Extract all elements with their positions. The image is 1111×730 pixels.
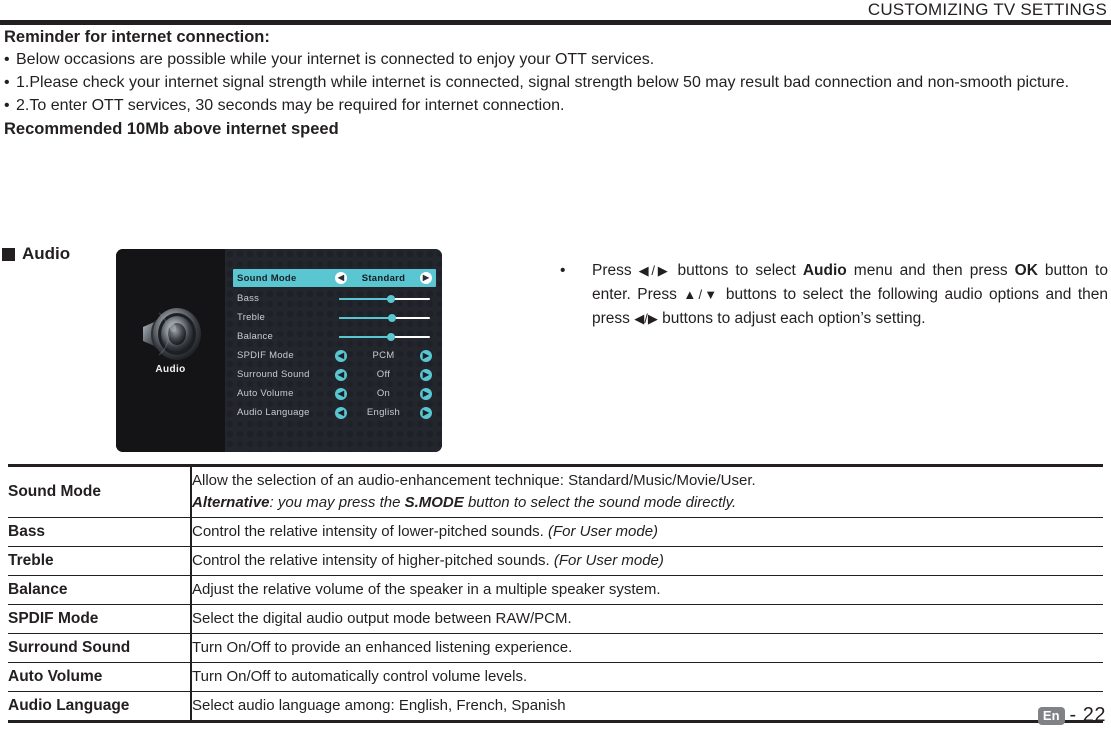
chevron-left-icon[interactable]: ◀ (335, 388, 347, 400)
bullet-glyph: • (6, 71, 16, 94)
reminder-bullet-1: •Below occasions are possible while your… (4, 48, 1106, 71)
table-cell-key: SPDIF Mode (8, 605, 191, 634)
page-number: - 22 (1070, 704, 1106, 727)
up-down-arrows-icon: ▲/▼ (683, 287, 719, 302)
table-cell-value: Turn On/Off to provide an enhanced liste… (191, 634, 1103, 663)
osd-options-panel: Sound Mode ◀ Standard ▶ Bass Treble (225, 249, 442, 452)
table-cell-value: Control the relative intensity of higher… (191, 547, 1103, 576)
reminder-bullet-3-text: 2.To enter OTT services, 30 seconds may … (16, 97, 564, 114)
chevron-right-icon[interactable]: ▶ (420, 350, 432, 362)
reminder-title: Reminder for internet connection: (4, 26, 1106, 48)
osd-row-spdif-mode[interactable]: SPDIF Mode ◀ PCM ▶ (233, 346, 436, 365)
chevron-left-icon[interactable]: ◀ (335, 272, 347, 284)
slider-knob[interactable] (388, 314, 396, 322)
instruction-text: Press ◀/▶ buttons to select Audio menu a… (592, 259, 1108, 331)
table-cell-key: Treble (8, 547, 191, 576)
table-cell-value: Select audio language among: English, Fr… (191, 692, 1103, 722)
table-cell-key: Sound Mode (8, 466, 191, 518)
table-row: SPDIF Mode Select the digital audio outp… (8, 605, 1103, 634)
osd-row-audio-language-label: Audio Language (237, 407, 335, 418)
osd-row-audio-language-value: English (347, 407, 420, 418)
instruction-part-3: menu and then press (847, 262, 1015, 279)
instruction-part-1: Press (592, 262, 639, 279)
table-row: Audio Language Select audio language amo… (8, 692, 1103, 722)
alternative-label: Alternative (192, 494, 270, 511)
smode-button-label: S.MODE (405, 494, 464, 511)
osd-row-surround-sound-label: Surround Sound (237, 369, 335, 380)
tv-osd-audio-menu: Audio Sound Mode ◀ Standard ▶ Bass Trebl… (116, 249, 442, 452)
table-row: Treble Control the relative intensity of… (8, 547, 1103, 576)
page-footer: En - 22 (1038, 704, 1106, 727)
table-row: Bass Control the relative intensity of l… (8, 518, 1103, 547)
osd-row-surround-sound-value: Off (347, 369, 420, 380)
audio-options-table: Sound Mode Allow the selection of an aud… (8, 464, 1103, 723)
osd-category-panel: Audio (116, 249, 225, 452)
chevron-right-icon[interactable]: ▶ (420, 272, 432, 284)
table-row: Auto Volume Turn On/Off to automatically… (8, 663, 1103, 692)
osd-row-bass[interactable]: Bass (233, 289, 436, 308)
slider-knob[interactable] (387, 295, 395, 303)
table-cell-line-1: Control the relative intensity of higher… (192, 552, 554, 569)
bullet-glyph: • (6, 94, 16, 117)
table-row: Surround Sound Turn On/Off to provide an… (8, 634, 1103, 663)
osd-row-treble-slider[interactable] (339, 312, 430, 324)
osd-row-balance[interactable]: Balance (233, 327, 436, 346)
speaker-icon (137, 307, 205, 361)
osd-row-audio-language[interactable]: Audio Language ◀ English ▶ (233, 403, 436, 422)
osd-category-label: Audio (116, 364, 225, 375)
table-cell-key: Balance (8, 576, 191, 605)
osd-row-sound-mode[interactable]: Sound Mode ◀ Standard ▶ (233, 269, 436, 287)
reminder-footer-note: Recommended 10Mb above internet speed (4, 118, 1106, 141)
osd-row-auto-volume-label: Auto Volume (237, 388, 335, 399)
table-cell-line-2: Alternative: you may press the S.MODE bu… (192, 492, 1103, 514)
chevron-right-icon[interactable]: ▶ (420, 369, 432, 381)
header-divider-rule (0, 20, 1111, 25)
instruction-bold-audio: Audio (803, 262, 847, 279)
left-right-arrows-icon: ◀/▶ (634, 311, 658, 326)
alternative-mid: : you may press the (270, 494, 405, 511)
osd-row-spdif-mode-value: PCM (347, 350, 420, 361)
slider-fill (339, 317, 392, 319)
osd-row-treble-label: Treble (237, 312, 335, 323)
osd-row-surround-sound[interactable]: Surround Sound ◀ Off ▶ (233, 365, 436, 384)
reminder-bullet-2-text: 1.Please check your internet signal stre… (16, 74, 1069, 91)
reminder-bullet-1-text: Below occasions are possible while your … (16, 51, 654, 68)
section-heading-audio: Audio (2, 244, 70, 264)
osd-row-sound-mode-label: Sound Mode (237, 273, 335, 284)
table-cell-note: (For User mode) (548, 523, 658, 540)
left-right-arrows-icon: ◀/▶ (639, 263, 671, 278)
table-cell-value: Adjust the relative volume of the speake… (191, 576, 1103, 605)
osd-category-audio[interactable]: Audio (116, 307, 225, 375)
language-badge: En (1038, 707, 1065, 725)
chevron-left-icon[interactable]: ◀ (335, 369, 347, 381)
instruction-part-2: buttons to select (670, 262, 802, 279)
table-cell-line-1: Control the relative intensity of lower-… (192, 523, 548, 540)
instruction-paragraph: • Press ◀/▶ buttons to select Audio menu… (560, 259, 1108, 331)
slider-fill (339, 298, 391, 300)
chevron-left-icon[interactable]: ◀ (335, 407, 347, 419)
table-cell-note: (For User mode) (554, 552, 664, 569)
table-row: Sound Mode Allow the selection of an aud… (8, 466, 1103, 518)
table-cell-value: Turn On/Off to automatically control vol… (191, 663, 1103, 692)
osd-row-treble[interactable]: Treble (233, 308, 436, 327)
osd-row-auto-volume-value: On (347, 388, 420, 399)
osd-row-auto-volume[interactable]: Auto Volume ◀ On ▶ (233, 384, 436, 403)
reminder-bullet-2: •1.Please check your internet signal str… (4, 71, 1106, 94)
table-cell-key: Auto Volume (8, 663, 191, 692)
slider-knob[interactable] (387, 333, 395, 341)
osd-row-bass-label: Bass (237, 293, 335, 304)
section-heading-label: Audio (22, 244, 70, 264)
table-cell-value: Allow the selection of an audio-enhancem… (191, 466, 1103, 518)
table-cell-value: Select the digital audio output mode bet… (191, 605, 1103, 634)
osd-row-bass-slider[interactable] (339, 293, 430, 305)
slider-fill (339, 336, 391, 338)
table-cell-key: Bass (8, 518, 191, 547)
square-bullet-icon (2, 248, 15, 261)
osd-row-sound-mode-value: Standard (347, 273, 420, 284)
table-row: Balance Adjust the relative volume of th… (8, 576, 1103, 605)
osd-row-balance-label: Balance (237, 331, 335, 342)
bullet-glyph: • (560, 259, 565, 283)
chevron-right-icon[interactable]: ▶ (420, 407, 432, 419)
table-cell-key: Audio Language (8, 692, 191, 722)
reminder-bullet-3: •2.To enter OTT services, 30 seconds may… (4, 94, 1106, 117)
chevron-left-icon[interactable]: ◀ (335, 350, 347, 362)
instruction-bold-ok: OK (1015, 262, 1038, 279)
osd-row-balance-slider[interactable] (339, 331, 430, 343)
reminder-block: Reminder for internet connection: •Below… (4, 26, 1106, 141)
chevron-right-icon[interactable]: ▶ (420, 388, 432, 400)
table-cell-line-1: Allow the selection of an audio-enhancem… (192, 470, 1103, 492)
table-cell-value: Control the relative intensity of lower-… (191, 518, 1103, 547)
alternative-end: button to select the sound mode directly… (464, 494, 736, 511)
osd-row-spdif-mode-label: SPDIF Mode (237, 350, 335, 361)
table-cell-key: Surround Sound (8, 634, 191, 663)
bullet-glyph: • (6, 48, 16, 71)
instruction-part-6: buttons to adjust each option’s setting. (658, 310, 926, 327)
page-header-title: CUSTOMIZING TV SETTINGS (868, 0, 1107, 20)
